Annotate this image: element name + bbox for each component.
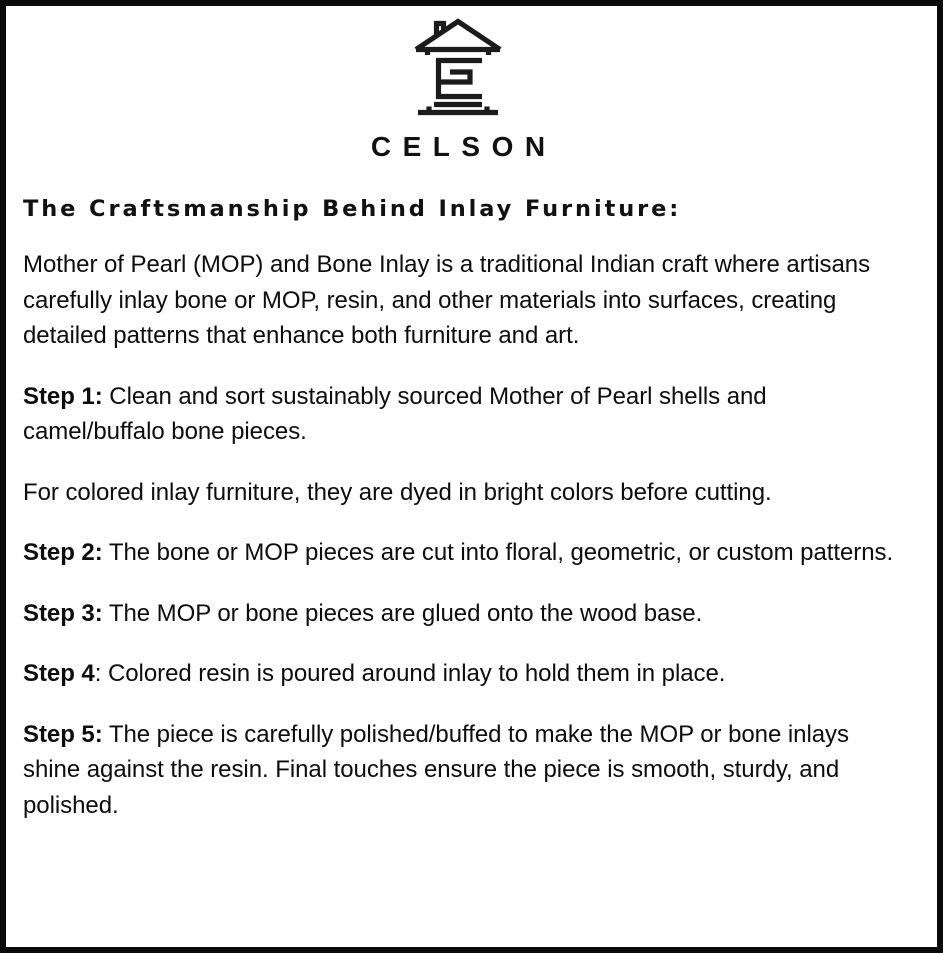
brand-wordmark: CELSON (17, 133, 899, 161)
paragraph-dye-note: For colored inlay furniture, they are dy… (23, 475, 899, 511)
paragraph-text: : Colored resin is poured around inlay t… (95, 660, 726, 687)
paragraph-lead: Step 4 (23, 660, 95, 687)
paragraph-text: Mother of Pearl (MOP) and Bone Inlay is … (23, 251, 870, 349)
paragraph-lead: Step 2: (23, 539, 103, 566)
paragraph-intro: Mother of Pearl (MOP) and Bone Inlay is … (23, 247, 899, 354)
document-card: CELSON The Craftsmanship Behind Inlay Fu… (0, 0, 943, 953)
paragraph-step-2: Step 2: The bone or MOP pieces are cut i… (23, 535, 899, 571)
paragraph-text: The bone or MOP pieces are cut into flor… (103, 539, 893, 566)
document-inner: CELSON The Craftsmanship Behind Inlay Fu… (6, 6, 937, 947)
paragraph-step-1: Step 1: Clean and sort sustainably sourc… (23, 379, 899, 450)
house-monogram-logo-icon (410, 16, 506, 120)
paragraph-step-4: Step 4: Colored resin is poured around i… (23, 656, 899, 692)
paragraph-text: The piece is carefully polished/buffed t… (23, 721, 849, 819)
paragraph-text: Clean and sort sustainably sourced Mothe… (23, 383, 767, 446)
paragraph-text: The MOP or bone pieces are glued onto th… (103, 600, 703, 627)
paragraph-lead: Step 5: (23, 721, 103, 748)
article-body: Mother of Pearl (MOP) and Bone Inlay is … (23, 247, 899, 823)
paragraph-step-5: Step 5: The piece is carefully polished/… (23, 717, 899, 824)
paragraph-text: For colored inlay furniture, they are dy… (23, 479, 772, 506)
page-title: The Craftsmanship Behind Inlay Furniture… (23, 196, 899, 223)
brand-header: CELSON (17, 10, 899, 161)
paragraph-lead: Step 1: (23, 383, 103, 410)
paragraph-lead: Step 3: (23, 600, 103, 627)
paragraph-step-3: Step 3: The MOP or bone pieces are glued… (23, 596, 899, 632)
